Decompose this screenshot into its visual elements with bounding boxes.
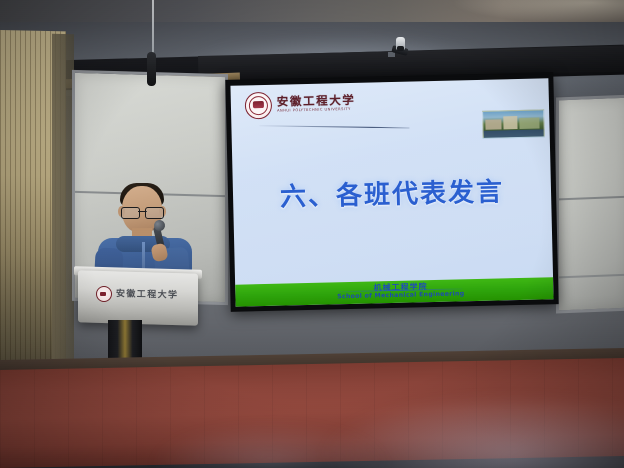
whiteboard-seam bbox=[559, 196, 624, 201]
thumbnail-building bbox=[519, 118, 539, 129]
ceiling-microphone-cable bbox=[152, 0, 154, 58]
security-camera-lens bbox=[397, 46, 404, 51]
thumbnail-building bbox=[503, 116, 517, 129]
university-name-cn: 安徽工程大学 bbox=[277, 95, 356, 108]
university-seal-icon bbox=[245, 92, 273, 120]
projection-screen: 安徽工程大学 ANHUI POLYTECHNIC UNIVERSITY 六、各班… bbox=[230, 78, 553, 306]
whiteboard-right bbox=[556, 95, 624, 314]
ceiling-microphone bbox=[147, 52, 156, 86]
floor-light-reflection bbox=[150, 422, 390, 468]
campus-photo-thumbnail bbox=[482, 109, 545, 138]
university-name-en: ANHUI POLYTECHNIC UNIVERSITY bbox=[277, 108, 356, 113]
projection-screen-frame: 安徽工程大学 ANHUI POLYTECHNIC UNIVERSITY 六、各班… bbox=[225, 72, 558, 312]
lectern-university-seal-icon bbox=[96, 286, 112, 302]
slide-footer-bar: 机械工程学院 School of Mechanical Engineering bbox=[235, 277, 553, 306]
lecture-hall-photo: 安徽工程大学 ANHUI POLYTECHNIC UNIVERSITY 六、各班… bbox=[0, 0, 624, 468]
eyeglasses-icon bbox=[121, 207, 164, 217]
eyeglass-lens bbox=[145, 207, 164, 219]
lectern-university-name: 安徽工程大学 bbox=[116, 286, 178, 301]
whiteboard-seam bbox=[559, 274, 624, 279]
slide-title: 六、各班代表发言 bbox=[233, 170, 552, 214]
university-logo: 安徽工程大学 ANHUI POLYTECHNIC UNIVERSITY bbox=[245, 90, 356, 120]
thumbnail-building bbox=[485, 119, 501, 129]
eyeglass-lens bbox=[121, 207, 140, 219]
thumbnail-water bbox=[484, 129, 544, 137]
acoustic-panel-edge bbox=[52, 34, 74, 385]
university-name-block: 安徽工程大学 ANHUI POLYTECHNIC UNIVERSITY bbox=[277, 95, 356, 114]
